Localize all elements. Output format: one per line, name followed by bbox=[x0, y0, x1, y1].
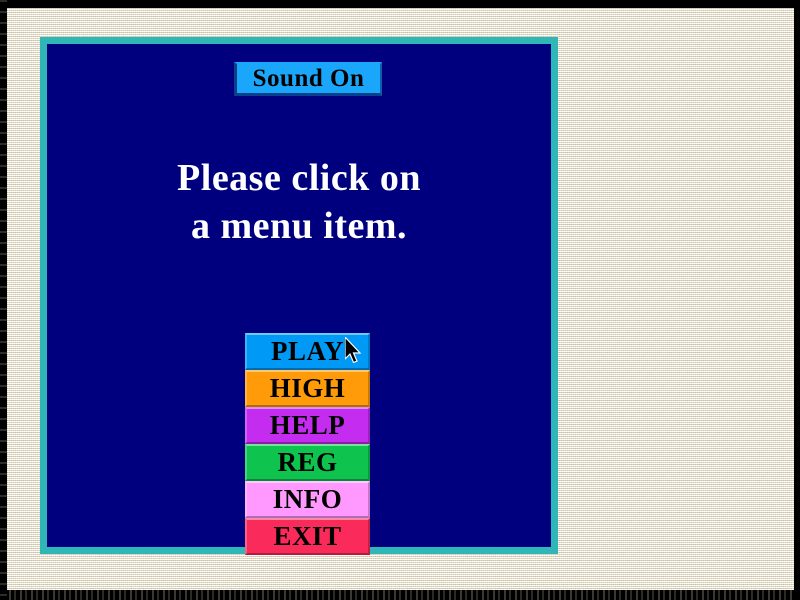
prompt-message-line-2: a menu item. bbox=[47, 202, 551, 250]
menu-button-exit-label: EXIT bbox=[273, 521, 341, 552]
screen-edge-right bbox=[794, 0, 800, 600]
prompt-message-line-1: Please click on bbox=[47, 154, 551, 202]
application-screen: Sound On Please click on a menu item. PL… bbox=[0, 0, 800, 600]
game-panel-inner: Sound On Please click on a menu item. PL… bbox=[47, 44, 551, 547]
menu-button-reg-label: REG bbox=[277, 447, 337, 478]
main-menu: PLAY HIGH HELP REG INFO EXIT bbox=[245, 333, 370, 555]
menu-button-play-label: PLAY bbox=[271, 336, 344, 367]
game-panel: Sound On Please click on a menu item. PL… bbox=[40, 37, 558, 554]
menu-button-reg[interactable]: REG bbox=[245, 444, 370, 481]
screen-edge-left bbox=[0, 0, 7, 600]
menu-button-exit[interactable]: EXIT bbox=[245, 518, 370, 555]
menu-button-help[interactable]: HELP bbox=[245, 407, 370, 444]
menu-button-high[interactable]: HIGH bbox=[245, 370, 370, 407]
menu-button-info-label: INFO bbox=[273, 484, 343, 515]
menu-button-high-label: HIGH bbox=[270, 373, 346, 404]
menu-button-play[interactable]: PLAY bbox=[245, 333, 370, 370]
sound-toggle-label: Sound On bbox=[253, 65, 365, 93]
screen-edge-bottom bbox=[0, 590, 800, 600]
prompt-message: Please click on a menu item. bbox=[47, 154, 551, 250]
sound-toggle-button[interactable]: Sound On bbox=[234, 62, 382, 96]
menu-button-info[interactable]: INFO bbox=[245, 481, 370, 518]
screen-edge-top bbox=[0, 0, 800, 8]
menu-button-help-label: HELP bbox=[270, 410, 346, 441]
